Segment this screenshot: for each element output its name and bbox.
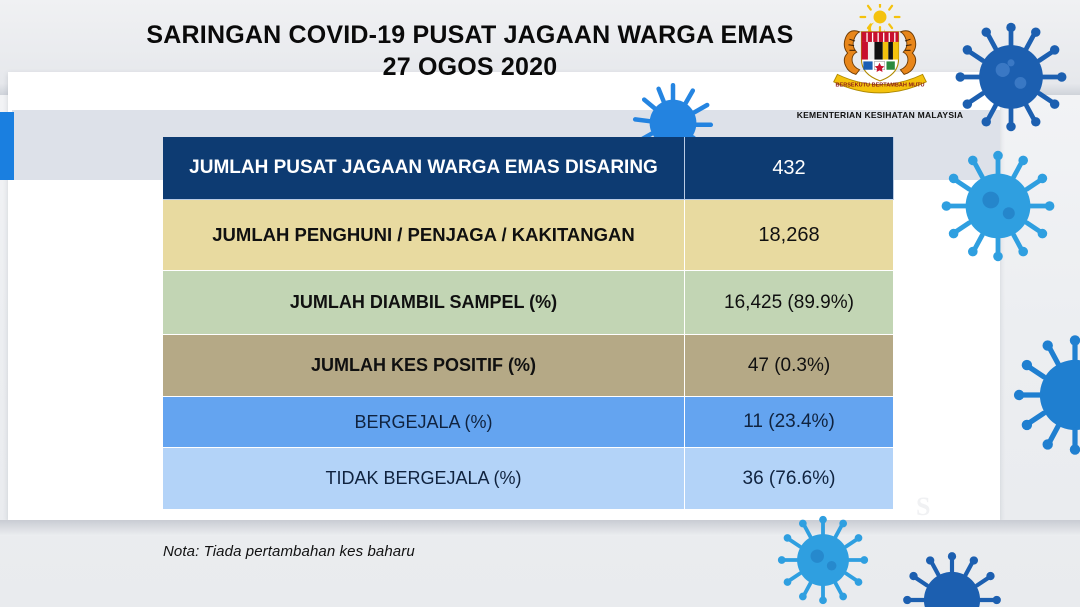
page-title: SARINGAN COVID-19 PUSAT JAGAAN WARGA EMA… — [120, 20, 820, 83]
table-row: BERGEJALA (%) 11 (23.4%) — [163, 397, 894, 448]
row-value: 432 — [772, 157, 805, 180]
table-row: JUMLAH KES POSITIF (%) 47 (0.3%) — [163, 335, 894, 397]
row-label-cell: BERGEJALA (%) — [163, 397, 685, 448]
footer-note: Nota: Tiada pertambahan kes baharu — [163, 543, 415, 560]
row-label: JUMLAH DIAMBIL SAMPEL (%) — [290, 292, 557, 313]
coronavirus-particle-icon — [1010, 330, 1080, 460]
table-row: JUMLAH PENGHUNI / PENJAGA / KAKITANGAN 1… — [163, 200, 894, 271]
row-value: 16,425 (89.9%) — [724, 292, 854, 314]
row-value: 47 (0.3%) — [748, 355, 830, 377]
ministry-name: KEMENTERIAN KESIHATAN MALAYSIA — [790, 110, 970, 120]
row-label: TIDAK BERGEJALA (%) — [325, 468, 521, 489]
row-label-cell: JUMLAH PENGHUNI / PENJAGA / KAKITANGAN — [163, 200, 685, 271]
table-row: JUMLAH DIAMBIL SAMPEL (%) 16,425 (89.9%) — [163, 271, 894, 335]
watermark-letter: S — [916, 492, 930, 522]
row-label: JUMLAH PUSAT JAGAAN WARGA EMAS DISARING — [189, 157, 658, 179]
screening-summary-table: JUMLAH PUSAT JAGAAN WARGA EMAS DISARING … — [163, 137, 894, 510]
coronavirus-particle-icon — [938, 146, 1058, 266]
blue-accent-bar — [0, 112, 14, 180]
ministry-logo: BERSEKUTU BERTAMBAH MUTU KEMENTERIAN KES… — [790, 4, 970, 120]
row-label-cell: JUMLAH PUSAT JAGAAN WARGA EMAS DISARING — [163, 137, 685, 200]
row-value-cell: 11 (23.4%) — [685, 397, 894, 448]
row-value: 11 (23.4%) — [743, 411, 835, 433]
title-line-2: 27 OGOS 2020 — [120, 51, 820, 83]
slide-header: SARINGAN COVID-19 PUSAT JAGAAN WARGA EMA… — [0, 0, 1080, 100]
row-value: 36 (76.6%) — [743, 468, 836, 490]
row-label-cell: JUMLAH DIAMBIL SAMPEL (%) — [163, 271, 685, 335]
row-value-cell: 47 (0.3%) — [685, 335, 894, 397]
title-line-1: SARINGAN COVID-19 PUSAT JAGAAN WARGA EMA… — [120, 20, 820, 51]
row-value: 18,268 — [758, 224, 819, 247]
row-value-cell: 36 (76.6%) — [685, 448, 894, 510]
row-value-cell: 18,268 — [685, 200, 894, 271]
table-row: JUMLAH PUSAT JAGAAN WARGA EMAS DISARING … — [163, 137, 894, 200]
row-value-cell: 16,425 (89.9%) — [685, 271, 894, 335]
svg-text:BERSEKUTU BERTAMBAH MUTU: BERSEKUTU BERTAMBAH MUTU — [836, 82, 925, 88]
row-label: JUMLAH KES POSITIF (%) — [311, 355, 536, 376]
row-label: BERGEJALA (%) — [354, 412, 492, 433]
row-label-cell: TIDAK BERGEJALA (%) — [163, 448, 685, 510]
row-label: JUMLAH PENGHUNI / PENJAGA / KAKITANGAN — [212, 224, 634, 246]
coronavirus-particle-icon — [775, 512, 871, 607]
coronavirus-particle-icon — [900, 548, 1004, 607]
row-label-cell: JUMLAH KES POSITIF (%) — [163, 335, 685, 397]
row-value-cell: 432 — [685, 137, 894, 200]
table-row: TIDAK BERGEJALA (%) 36 (76.6%) — [163, 448, 894, 510]
malaysia-coat-of-arms-icon: BERSEKUTU BERTAMBAH MUTU — [824, 91, 936, 108]
card-bottom-shadow — [0, 520, 1080, 536]
